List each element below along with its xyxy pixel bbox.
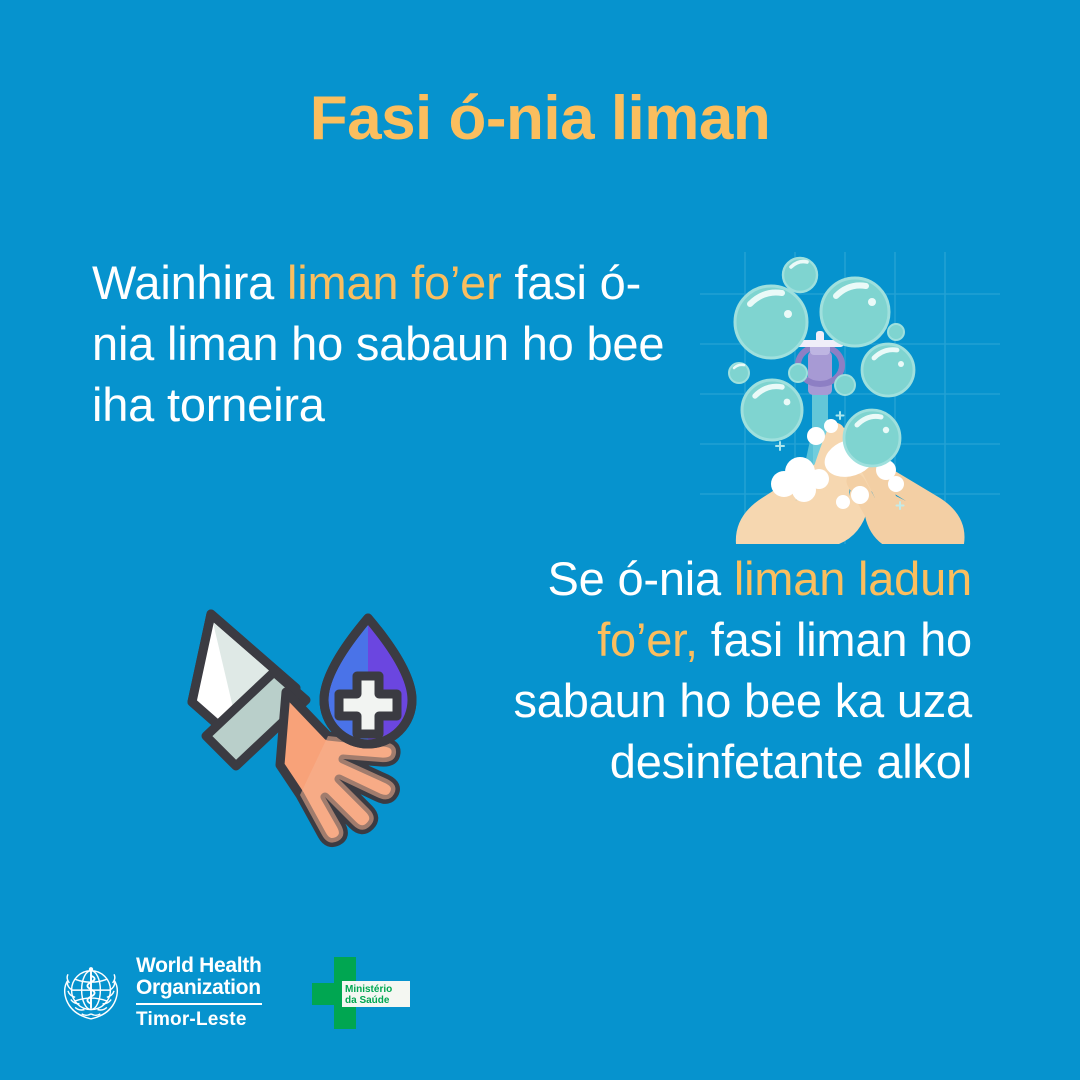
message-left-prefix: Wainhira (92, 256, 287, 309)
ministry-line-2: da Saúde (345, 995, 390, 1006)
page-title: Fasi ó-nia liman (0, 86, 1080, 151)
message-right: Se ó-nia liman ladun fo’er, fasi liman h… (470, 548, 972, 792)
who-divider (136, 1003, 262, 1005)
poster-canvas: Fasi ó-nia liman Wainhira liman fo’er fa… (0, 0, 1080, 1080)
washing-hands-illustration (700, 252, 1000, 544)
hand-sanitizer-illustration (178, 596, 440, 858)
message-right-prefix: Se ó-nia (548, 552, 734, 605)
who-logo: World Health Organization Timor-Leste (55, 952, 262, 1034)
who-country-label: Timor-Leste (136, 1009, 262, 1031)
message-left-highlight: liman fo’er (287, 256, 502, 309)
who-emblem (55, 957, 127, 1029)
who-line-1: World Health (136, 955, 262, 977)
message-left: Wainhira liman fo’er fasi ó-nia liman ho… (92, 252, 682, 435)
ministry-line-1: Ministério (345, 984, 392, 995)
who-wordmark: World Health Organization Timor-Leste (136, 955, 262, 1032)
sanitizer-droplet-icon (324, 618, 412, 744)
ministry-of-health-logo: Ministério da Saúde (312, 957, 410, 1029)
message-right-suffix: fasi liman ho sabaun ho bee ka uza desin… (513, 613, 972, 788)
footer-logos: World Health Organization Timor-Leste Mi… (55, 950, 410, 1036)
who-line-2: Organization (136, 977, 262, 999)
